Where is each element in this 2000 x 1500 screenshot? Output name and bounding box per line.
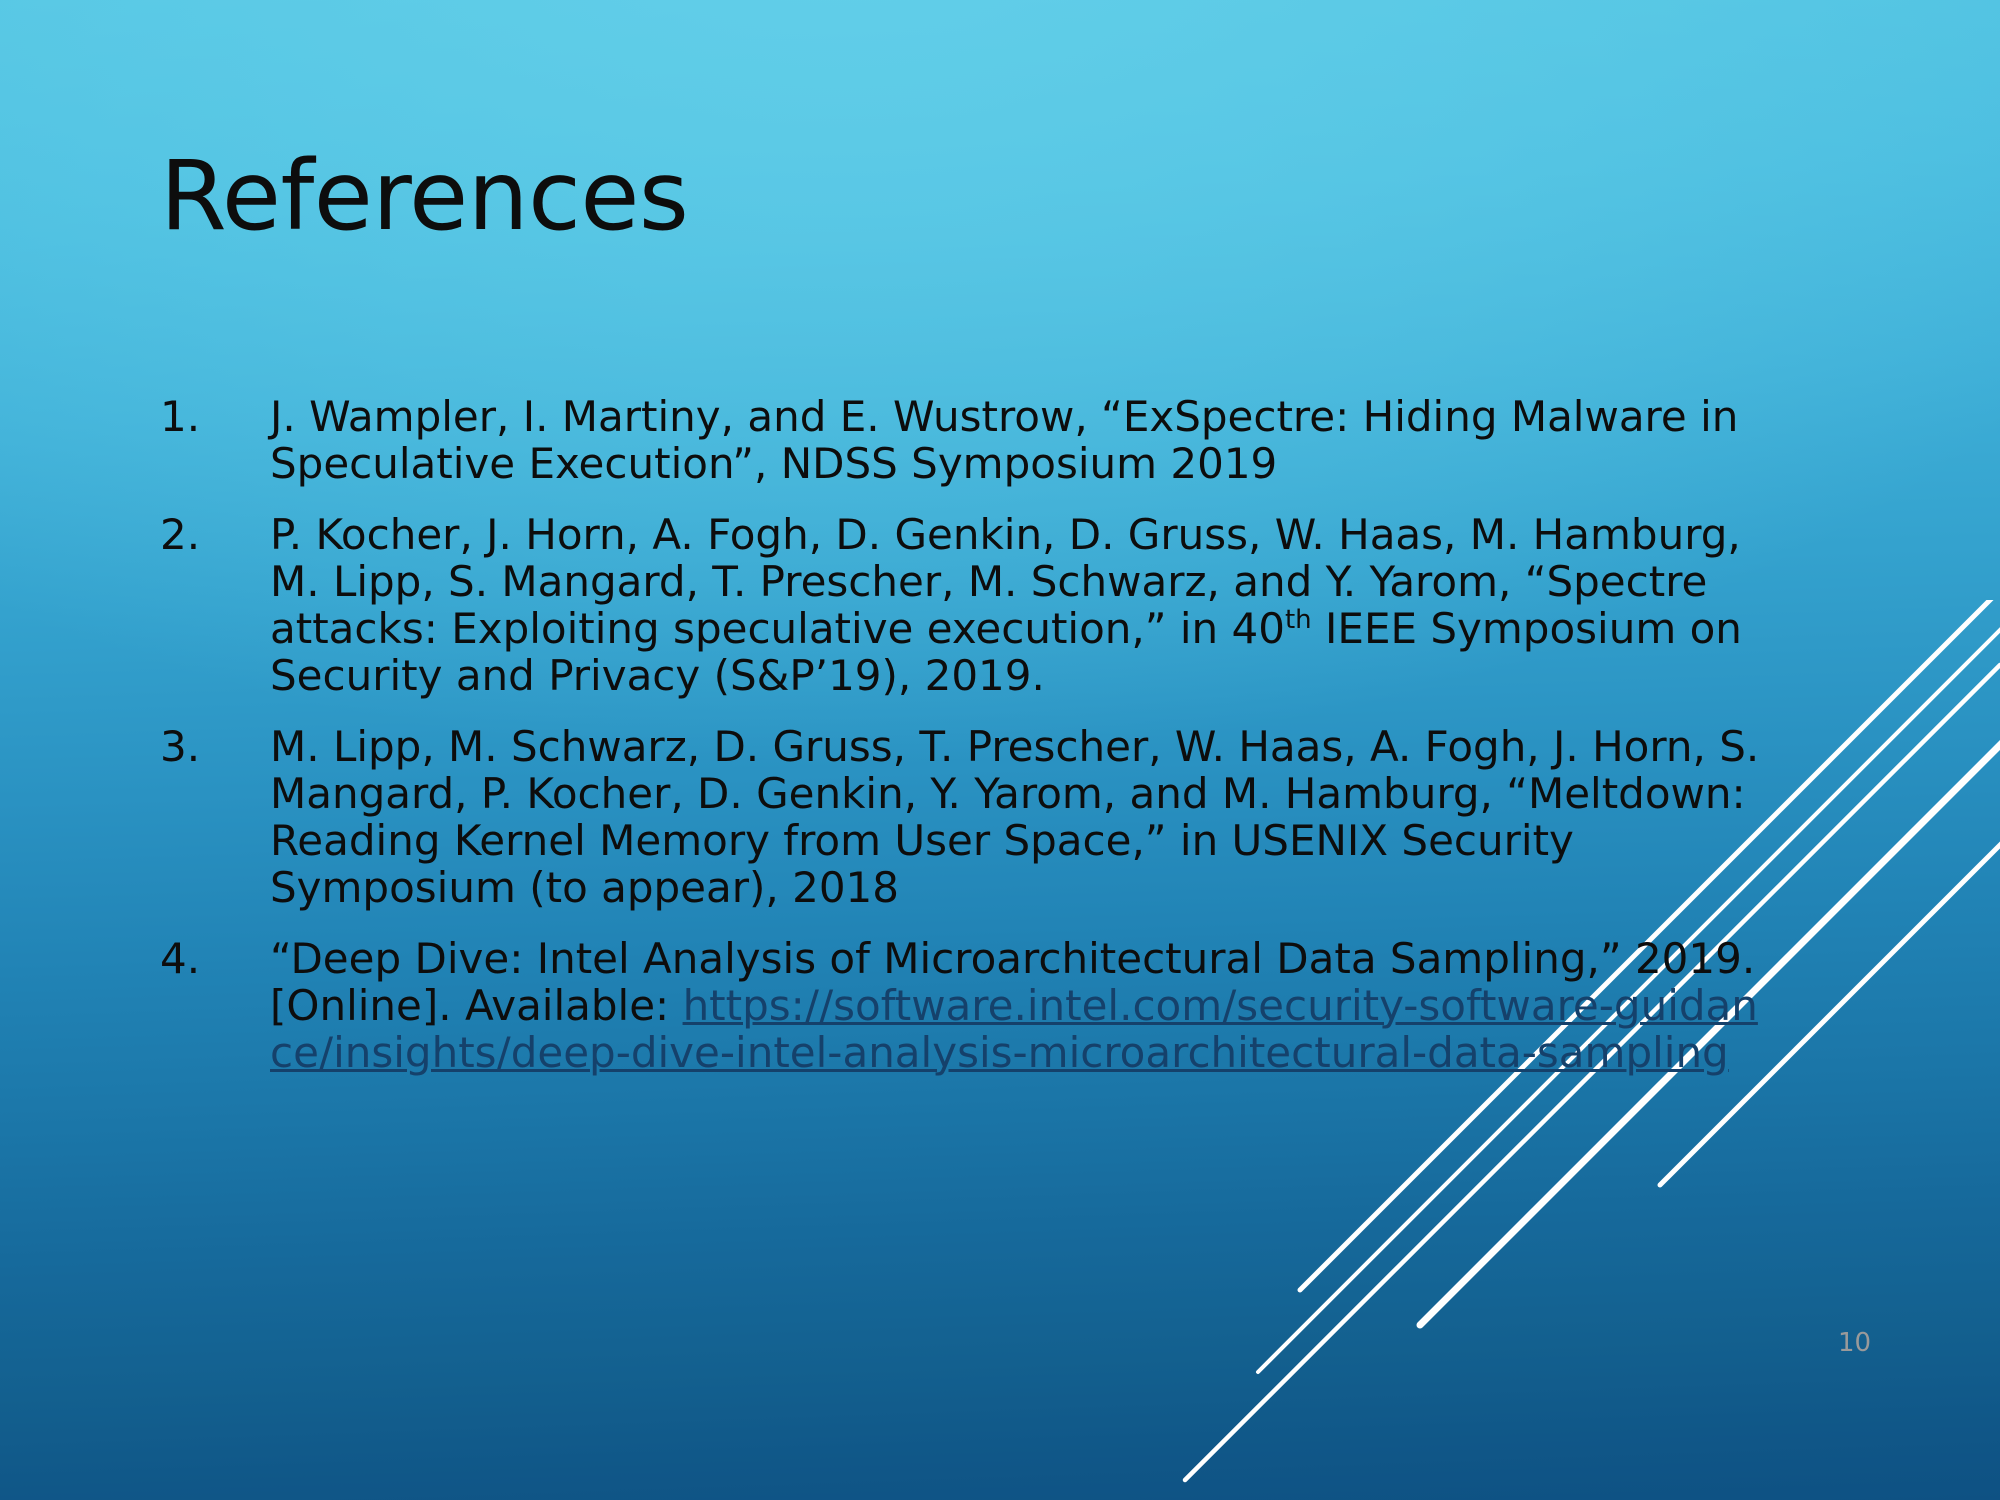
slide: References 1. J. Wampler, I. Martiny, an… [0, 0, 2000, 1500]
page-number: 10 [1838, 1328, 1871, 1358]
list-item: 1. J. Wampler, I. Martiny, and E. Wustro… [160, 393, 1790, 487]
list-item-text: J. Wampler, I. Martiny, and E. Wustrow, … [270, 393, 1780, 487]
ordinal-superscript: th [1285, 605, 1312, 635]
page-title: References [160, 148, 688, 244]
references-list: 1. J. Wampler, I. Martiny, and E. Wustro… [160, 393, 1790, 1100]
list-item: 3. M. Lipp, M. Schwarz, D. Gruss, T. Pre… [160, 723, 1790, 911]
list-item-number: 2. [160, 511, 270, 558]
list-item-text: P. Kocher, J. Horn, A. Fogh, D. Genkin, … [270, 511, 1780, 699]
list-item-text: “Deep Dive: Intel Analysis of Microarchi… [270, 935, 1780, 1076]
list-item-number: 3. [160, 723, 270, 770]
list-item: 4. “Deep Dive: Intel Analysis of Microar… [160, 935, 1790, 1076]
list-item-number: 1. [160, 393, 270, 440]
list-item: 2. P. Kocher, J. Horn, A. Fogh, D. Genki… [160, 511, 1790, 699]
list-item-number: 4. [160, 935, 270, 982]
list-item-text: M. Lipp, M. Schwarz, D. Gruss, T. Presch… [270, 723, 1780, 911]
